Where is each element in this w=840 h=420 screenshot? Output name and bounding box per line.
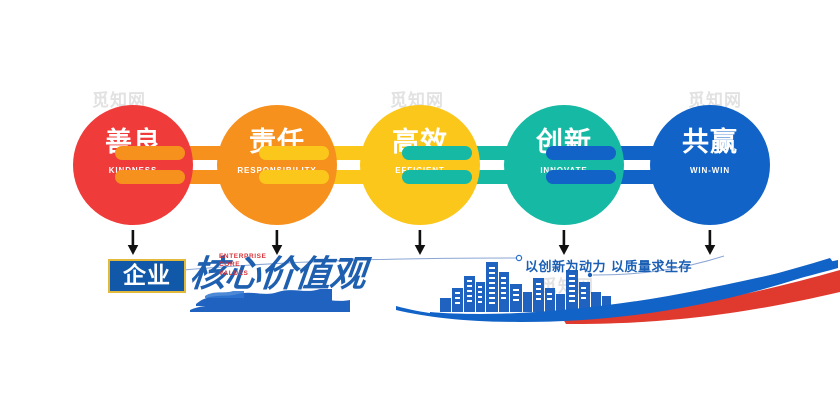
enterprise-core-values-eyebrow: ENTERPRISE CORE VALUES [219,253,267,278]
connector-bar-overlap [546,170,616,184]
connector-overlap-efficient [402,146,472,184]
connector-bar-overlap [259,170,329,184]
value-circle-label-en: WIN-WIN [650,167,770,175]
core-values-calligraphy: 核心价值观 [188,256,367,292]
connector-bar-overlap [402,170,472,184]
eyebrow-line-3: VALUES [219,270,267,278]
connector-bar-overlap [546,146,616,160]
enterprise-badge: 企业 [108,259,186,293]
eyebrow-line-1: ENTERPRISE [219,253,267,261]
connector-bar-overlap [115,170,185,184]
value-circle-label-cn: 共赢 [650,129,770,156]
connector-bar-overlap [259,146,329,160]
connector-bar-overlap [115,146,185,160]
connector-overlap-innovate [546,146,616,184]
connector-overlap-kindness [115,146,185,184]
values-chain: 善良KINDNESS责任RESPONSIBILITY高效EFFICIENT创新I… [0,0,840,250]
poster-canvas: 觅知网觅知网觅知网觅知网 善良KINDNESS责任RESPONSIBILITY高… [0,0,840,420]
hairline-left-dot [516,255,521,260]
connector-overlap-responsibility [259,146,329,184]
eyebrow-line-2: CORE [219,261,267,269]
slogan-text: 以创新为动力 以质量求生存 [525,256,692,275]
connector-bar-overlap [402,146,472,160]
enterprise-badge-label: 企业 [123,265,171,288]
value-circle-winwin[interactable]: 共赢WIN-WIN [650,105,770,225]
